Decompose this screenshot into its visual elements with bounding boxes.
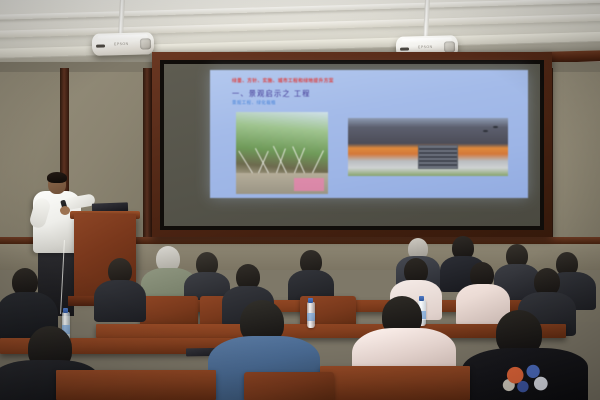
projector-brand-label: EPSON bbox=[114, 42, 129, 46]
water-bottle-1 bbox=[307, 302, 315, 328]
bottle-label bbox=[307, 313, 315, 321]
desk-row-4-right bbox=[320, 366, 470, 400]
audience-torso-r3-1 bbox=[94, 280, 146, 322]
bottle-cap-icon bbox=[308, 298, 313, 303]
photo-gate bbox=[418, 145, 458, 169]
presenter-hand bbox=[60, 206, 70, 215]
projector-vent-icon bbox=[96, 44, 105, 47]
slide-photo-tree-planting bbox=[236, 112, 328, 194]
projector-lens-icon bbox=[444, 41, 455, 52]
wall-divider-2 bbox=[143, 68, 152, 240]
projector-lens-icon bbox=[140, 38, 151, 49]
lecture-room-photo: EPSON EPSON 绿量、方针、实施、城市工程和绿地提升方案 一、景观启示之… bbox=[0, 0, 600, 400]
wall-panel-3 bbox=[552, 72, 600, 237]
projected-slide: 绿量、方针、实施、城市工程和绿地提升方案 一、景观启示之 工程 景观工程、绿化栽… bbox=[210, 70, 528, 198]
slide-subtitle-text: 一、景观启示之 工程 bbox=[232, 90, 311, 97]
projector-vent-icon bbox=[400, 47, 409, 50]
desk-row-4-left bbox=[56, 370, 216, 400]
slide-detail-text: 景观工程、绿化栽植 bbox=[232, 101, 276, 105]
bottle-cap-icon bbox=[63, 308, 68, 313]
photo-watermark bbox=[294, 178, 324, 191]
shirt-pattern-graphic bbox=[496, 360, 560, 398]
presenter-hair bbox=[47, 172, 67, 183]
slide-title-text: 绿量、方针、实施、城市工程和绿地提升方案 bbox=[232, 79, 334, 84]
slide-photo-wall-gate bbox=[348, 118, 508, 176]
projector-left: EPSON bbox=[92, 32, 155, 56]
projector-brand-label: EPSON bbox=[418, 45, 433, 49]
bottle-cap-icon bbox=[419, 296, 424, 301]
chair-front-center bbox=[244, 372, 334, 400]
